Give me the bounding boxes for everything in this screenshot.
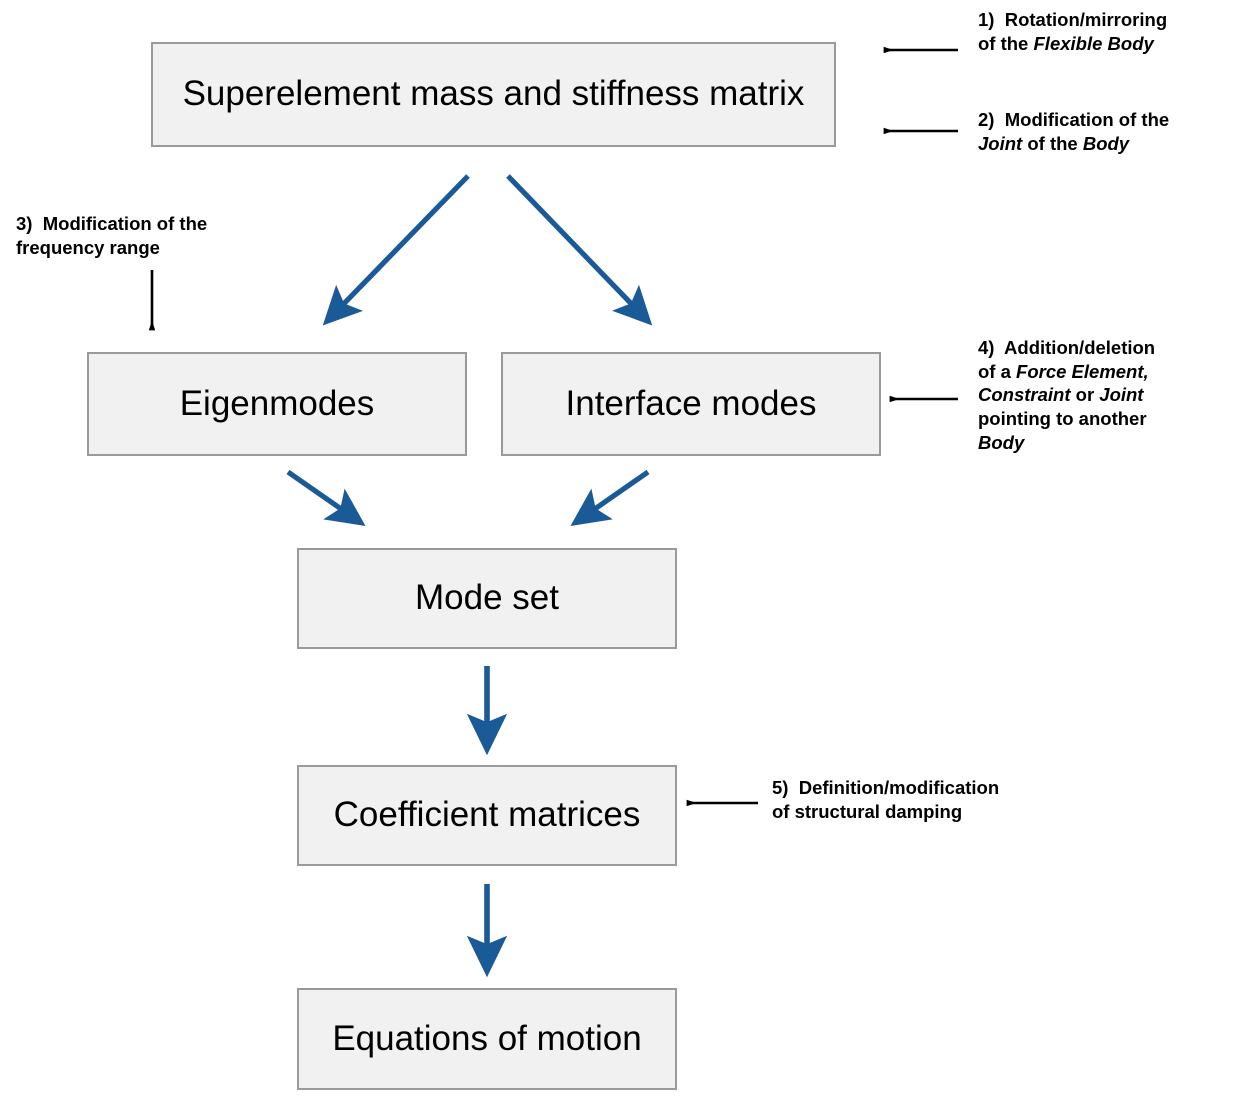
annotation-line: 1) Rotation/mirroring [978,8,1236,32]
node-label: Interface modes [566,385,817,424]
node-label: Eigenmodes [180,385,375,424]
node-label: Superelement mass and stiffness matrix [183,75,805,114]
annotation-text: pointing to another [978,408,1147,429]
node-equations-of-motion[interactable]: Equations of motion [297,988,677,1090]
annotation-line: Constraint or Joint [978,383,1230,407]
annotation-line: 4) Addition/deletion [978,336,1230,360]
node-label: Mode set [415,579,559,618]
annotation-line: of a Force Element, [978,360,1230,384]
annotation-text: or [1071,384,1100,405]
annotation-line: pointing to another [978,407,1230,431]
annotation-number: 5) [772,777,799,798]
annotation-text: of structural damping [772,801,962,822]
annotation-text: Addition/deletion [1004,337,1155,358]
node-label: Equations of motion [332,1020,641,1059]
annotation-emphasis: Body [978,432,1024,453]
edge-superelement-to-eigenmodes [330,176,468,318]
annotation-4: 4) Addition/deletionof a Force Element,C… [978,336,1230,454]
annotation-line: Body [978,431,1230,455]
annotation-number: 1) [978,9,1005,30]
annotation-emphasis: Force Element, [1016,361,1149,382]
annotation-emphasis: Constraint [978,384,1071,405]
annotation-number: 3) [16,213,43,234]
annotation-text: Modification of the [1005,109,1169,130]
annotation-line: 2) Modification of the [978,108,1236,132]
annotation-text: of the [1022,133,1083,154]
diagram-canvas: Superelement mass and stiffness matrix E… [0,0,1242,1098]
annotation-text: Rotation/mirroring [1005,9,1167,30]
annotation-emphasis: Joint [978,133,1022,154]
node-interface-modes[interactable]: Interface modes [501,352,881,456]
annotation-text: of a [978,361,1016,382]
annotation-1: 1) Rotation/mirroringof the Flexible Bod… [978,8,1236,55]
annotation-text: of the [978,33,1034,54]
annotation-line: of structural damping [772,800,1102,824]
annotation-emphasis: Flexible Body [1034,33,1154,54]
edge-interface-to-modeset [579,472,648,520]
edge-eigenmodes-to-modeset [288,472,357,520]
annotation-line: of the Flexible Body [978,32,1236,56]
annotation-emphasis: Body [1083,133,1129,154]
annotation-line: 3) Modification of the [16,212,286,236]
node-mode-set[interactable]: Mode set [297,548,677,649]
annotation-text: Definition/modification [799,777,999,798]
node-superelement-mass-and-stiffness-matrix[interactable]: Superelement mass and stiffness matrix [151,42,836,147]
edge-superelement-to-interface [508,176,645,318]
annotation-number: 2) [978,109,1005,130]
annotation-2: 2) Modification of theJoint of the Body [978,108,1236,155]
annotation-number: 4) [978,337,1004,358]
node-eigenmodes[interactable]: Eigenmodes [87,352,467,456]
annotation-line: frequency range [16,236,286,260]
node-coefficient-matrices[interactable]: Coefficient matrices [297,765,677,866]
annotation-text: Modification of the [43,213,207,234]
annotation-text: frequency range [16,237,160,258]
annotation-5: 5) Definition/modificationof structural … [772,776,1102,823]
node-label: Coefficient matrices [334,796,641,835]
annotation-line: Joint of the Body [978,132,1236,156]
annotation-emphasis: Joint [1099,384,1143,405]
annotation-line: 5) Definition/modification [772,776,1102,800]
annotation-3: 3) Modification of thefrequency range [16,212,286,259]
